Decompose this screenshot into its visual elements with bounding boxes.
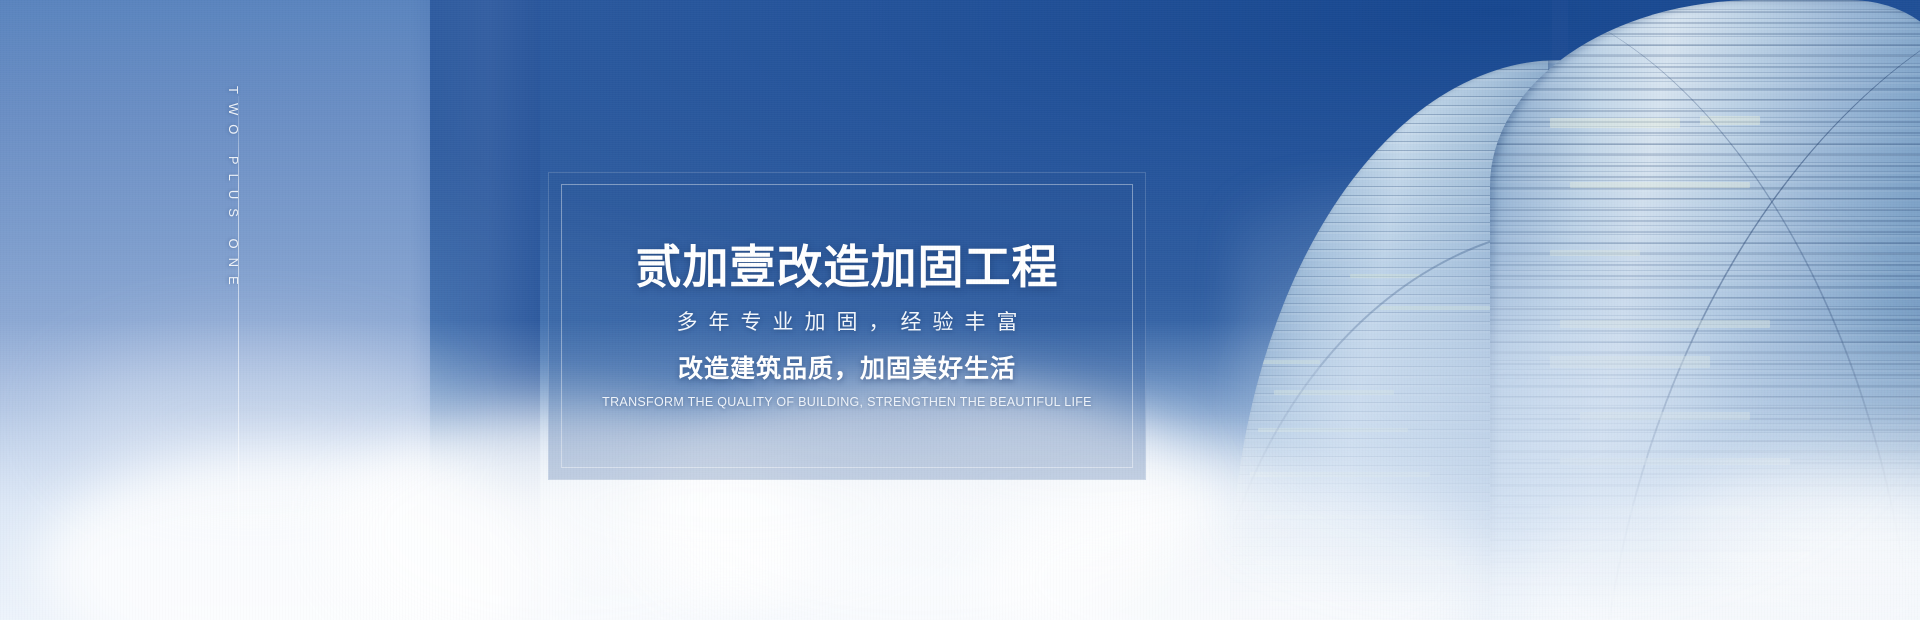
slogan-english: TRANSFORM THE QUALITY OF BUILDING, STREN… — [602, 396, 1092, 409]
vertical-brand-label: TWO PLUS ONE — [226, 86, 241, 294]
hero-banner: TWO PLUS ONE 1 贰加壹改造加固工程 多年专业加固，经验丰富 改造建… — [0, 0, 1920, 620]
atmospheric-haze — [1230, 180, 1920, 620]
vertical-slide-number: 1 — [183, 578, 194, 584]
headline-panel: 贰加壹改造加固工程 多年专业加固，经验丰富 改造建筑品质，加固美好生活 TRAN… — [548, 172, 1146, 480]
slogan-chinese: 改造建筑品质，加固美好生活 — [678, 357, 1016, 382]
cloud-puff — [60, 340, 440, 500]
page-title: 贰加壹改造加固工程 — [636, 244, 1059, 290]
page-subtitle: 多年专业加固，经验丰富 — [666, 312, 1029, 333]
headline-panel-content: 贰加壹改造加固工程 多年专业加固，经验丰富 改造建筑品质，加固美好生活 TRAN… — [549, 173, 1145, 479]
